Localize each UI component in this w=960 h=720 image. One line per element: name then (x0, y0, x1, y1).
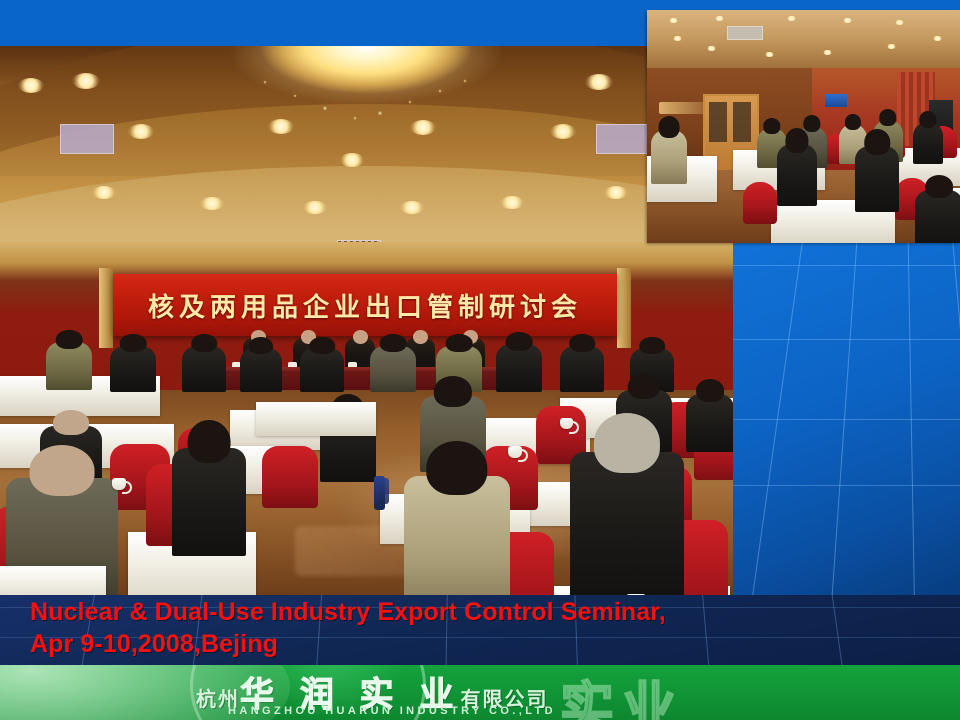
top-blue-band (0, 0, 660, 46)
inset-ceiling-light (707, 46, 716, 51)
slide-title: Nuclear & Dual-Use Industry Export Contr… (30, 596, 666, 660)
inset-ceiling (647, 10, 960, 72)
inset-attendees-photo (647, 10, 960, 243)
audience-table (256, 402, 376, 436)
audience-person (686, 394, 733, 452)
audience-chair (262, 446, 318, 508)
inset-ceiling-light (787, 16, 796, 21)
inset-ceiling-light (887, 44, 896, 49)
seminar-banner-text: 核及两用品企业出口管制研讨会 (148, 287, 582, 324)
audience-person (182, 346, 226, 392)
ceiling-light (410, 120, 436, 135)
inset-ceiling-light (895, 20, 904, 25)
inset-ceiling-vent (727, 26, 763, 40)
inset-person (777, 144, 817, 206)
audience-person (110, 346, 156, 392)
seminar-banner: 核及两用品企业出口管制研讨会 (113, 274, 617, 336)
ceiling-vent (60, 124, 114, 154)
inset-wall-logo (659, 102, 705, 114)
inset-person (855, 146, 899, 212)
audience-person (46, 342, 92, 390)
audience-person (560, 346, 604, 392)
ceiling-light (200, 197, 224, 210)
inset-ceiling-light (765, 52, 774, 57)
ceiling-light (303, 201, 327, 214)
ceiling-light (128, 124, 154, 139)
title-line-2: Apr 9-10,2008,Bejing (30, 628, 666, 660)
ceiling-light (550, 124, 576, 139)
ceiling-light (585, 74, 613, 90)
inset-ceiling-light (823, 50, 832, 55)
audience-person (496, 344, 542, 392)
ceiling-light (92, 186, 116, 199)
audience-person (300, 348, 344, 392)
footer-watermark: 实业 (560, 665, 684, 720)
audience-person (172, 448, 246, 556)
inset-chair (743, 182, 777, 224)
ceiling-light (18, 78, 44, 93)
ceiling-light (604, 186, 628, 199)
audience-table (0, 566, 106, 595)
inset-ceiling-light (669, 18, 678, 23)
inset-ceiling-light (715, 16, 724, 21)
inset-person (651, 130, 687, 184)
footer-logo-band: 实业 杭州华 润 实 业有限公司 HANGZHOU HUARUN INDUSTR… (0, 665, 960, 720)
title-line-1: Nuclear & Dual-Use Industry Export Contr… (30, 596, 666, 628)
inset-ceiling-light (843, 18, 852, 23)
audience-person (370, 346, 416, 392)
audience-person (404, 476, 510, 595)
inset-ceiling-light (673, 36, 682, 41)
ceiling-light (340, 153, 364, 167)
inset-person (913, 122, 943, 164)
inset-projector-screen (825, 94, 847, 107)
ceiling-light (400, 201, 424, 214)
globe-gradient-panel (733, 243, 960, 595)
inset-person (915, 190, 960, 243)
title-band: Nuclear & Dual-Use Industry Export Contr… (0, 595, 960, 665)
ceiling-light (268, 119, 294, 134)
inset-ceiling-light (933, 36, 942, 41)
ceiling-light (500, 196, 524, 209)
ceiling-vent (596, 124, 650, 154)
slide-canvas: 核及两用品企业出口管制研讨会 (0, 0, 960, 720)
coffee-mug (112, 478, 126, 490)
footer-company-name-en: HANGZHOU HUARUN INDUSTRY CO.,LTD (228, 705, 556, 717)
main-conference-photo: 核及两用品企业出口管制研讨会 (0, 46, 733, 595)
water-bottle (378, 478, 389, 504)
audience-person (240, 348, 282, 392)
banner-frame-right (617, 268, 631, 348)
coffee-mug (560, 418, 573, 429)
banner-frame-left (99, 268, 113, 348)
audience-person (570, 452, 684, 595)
coffee-mug (508, 446, 522, 458)
ceiling-light (72, 73, 100, 89)
